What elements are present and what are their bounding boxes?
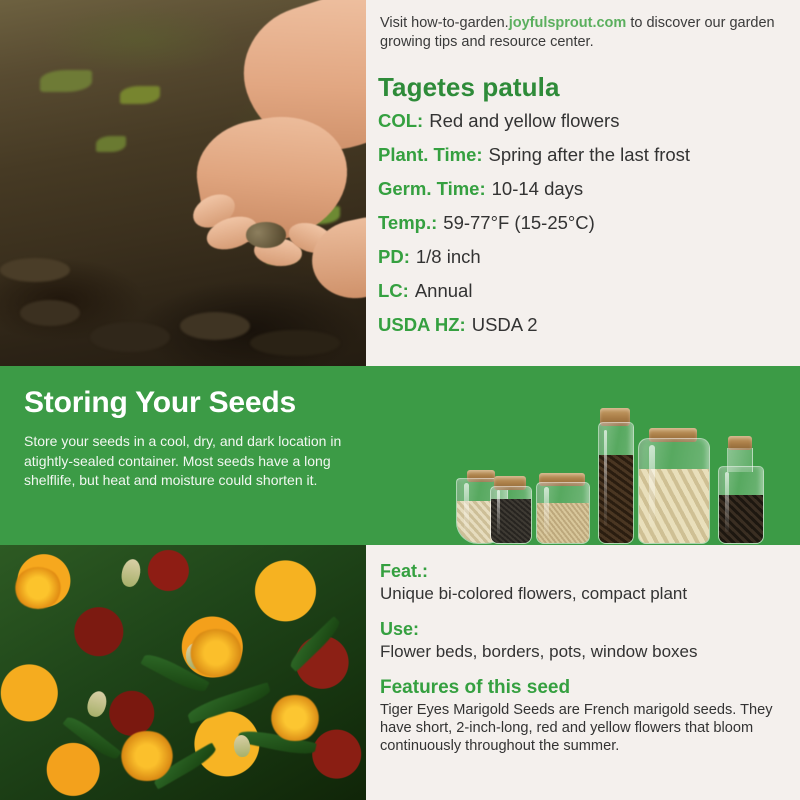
hand-sowing-seeds-photo <box>0 0 366 366</box>
spec-label: Plant. Time: <box>378 144 483 166</box>
feat-value: Unique bi-colored flowers, compact plant <box>380 583 790 604</box>
spec-label: COL: <box>378 110 423 132</box>
spec-label: Germ. Time: <box>378 178 486 200</box>
spec-row-lc: LC: Annual <box>378 280 794 314</box>
about-title: Features of this seed <box>380 677 790 699</box>
spec-row-germ-time: Germ. Time: 10-14 days <box>378 178 794 212</box>
jar-dark-fine-seeds <box>490 476 530 544</box>
about-body: Tiger Eyes Marigold Seeds are French mar… <box>380 701 790 755</box>
visit-website-line: Visit how-to-garden.joyfulsprout.com to … <box>380 14 780 52</box>
spec-value: Spring after the last frost <box>489 144 691 166</box>
spec-row-col: COL: Red and yellow flowers <box>378 110 794 144</box>
spec-row-temp: Temp.: 59-77°F (15-25°C) <box>378 212 794 246</box>
spec-label: USDA HZ: <box>378 314 466 336</box>
feature-group-about: Features of this seed Tiger Eyes Marigol… <box>380 677 790 755</box>
spec-value: 1/8 inch <box>416 246 481 268</box>
feature-group-use: Use: Flower beds, borders, pots, window … <box>380 619 790 662</box>
storing-title: Storing Your Seeds <box>24 386 296 420</box>
storing-body-text: Store your seeds in a cool, dry, and dar… <box>24 432 369 491</box>
jar-tall-narrow <box>598 411 632 544</box>
storing-seeds-section: Storing Your Seeds Store your seeds in a… <box>0 366 800 545</box>
marigold-flowers-photo <box>0 545 366 800</box>
spec-value: USDA 2 <box>472 314 538 336</box>
use-value: Flower beds, borders, pots, window boxes <box>380 641 790 662</box>
plant-spec-panel: Visit how-to-garden.joyfulsprout.com to … <box>366 0 800 366</box>
seed-features-panel: Feat.: Unique bi-colored flowers, compac… <box>366 545 800 800</box>
brand-domain-link[interactable]: joyfulsprout.com <box>509 15 627 31</box>
spec-value: Red and yellow flowers <box>429 110 619 132</box>
spec-row-usda-hz: USDA HZ: USDA 2 <box>378 314 794 348</box>
spec-row-pd: PD: 1/8 inch <box>378 246 794 280</box>
spec-label: PD: <box>378 246 410 268</box>
spec-label: Temp.: <box>378 212 437 234</box>
feat-label: Feat.: <box>380 561 790 582</box>
visit-prefix-text: Visit how-to-garden. <box>380 15 509 31</box>
spec-value: Annual <box>415 280 473 302</box>
spec-row-plant-time: Plant. Time: Spring after the last frost <box>378 144 794 178</box>
feature-group-feat: Feat.: Unique bi-colored flowers, compac… <box>380 561 790 604</box>
spec-value: 10-14 days <box>492 178 584 200</box>
seeds-in-hand <box>246 222 286 248</box>
use-label: Use: <box>380 619 790 640</box>
seed-storage-jars-image <box>456 374 796 544</box>
jar-large-pumpkin-seeds <box>638 426 708 544</box>
spec-value: 59-77°F (15-25°C) <box>443 212 595 234</box>
jar-bottle-sunflower-seeds <box>718 434 762 544</box>
seed-packet-infographic: Visit how-to-garden.joyfulsprout.com to … <box>0 0 800 800</box>
scientific-name-heading: Tagetes patula <box>378 72 560 103</box>
spec-list: COL: Red and yellow flowers Plant. Time:… <box>378 110 794 348</box>
spec-label: LC: <box>378 280 409 302</box>
jar-wide-sandy-seeds <box>536 472 588 544</box>
